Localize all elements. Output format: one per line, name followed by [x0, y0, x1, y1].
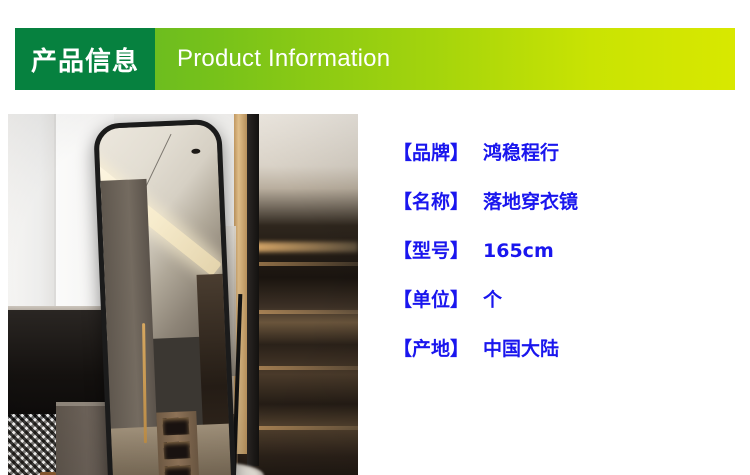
- spec-label-origin: 【产地】: [393, 334, 469, 361]
- spec-label-brand: 【品牌】: [393, 138, 469, 165]
- floor-standing-mirror: [93, 119, 240, 475]
- warm-light-stripe: [244, 310, 358, 314]
- banner-title-en: Product Information: [155, 28, 735, 90]
- spec-row-origin: 【产地】 中国大陆: [393, 334, 733, 383]
- banner-title-cn: 产品信息: [15, 28, 155, 90]
- spec-value-name: 落地穿衣镜: [483, 187, 578, 214]
- spec-row-unit: 【单位】 个: [393, 285, 733, 334]
- spec-value-unit: 个: [483, 285, 502, 312]
- reflected-shelf-slot: [163, 417, 190, 435]
- warm-light-stripe: [244, 426, 358, 430]
- product-information-banner: 产品信息 Product Information: [15, 28, 735, 90]
- spec-label-name: 【名称】: [393, 187, 469, 214]
- product-photo-scene: [8, 114, 358, 475]
- warm-light-stripe: [244, 366, 358, 370]
- product-photo: [8, 114, 358, 475]
- closet-panel-left: [8, 114, 54, 326]
- reflected-shelf-slot: [165, 465, 192, 475]
- product-spec-list: 【品牌】 鸿稳程行 【名称】 落地穿衣镜 【型号】 165cm 【单位】 个 【…: [393, 138, 733, 383]
- spec-label-unit: 【单位】: [393, 285, 469, 312]
- reflected-shelf-slot: [164, 441, 191, 459]
- spec-value-brand: 鸿稳程行: [483, 138, 559, 165]
- mirror-black-frame: [93, 119, 240, 475]
- spec-label-model: 【型号】: [393, 236, 469, 263]
- spec-row-brand: 【品牌】 鸿稳程行: [393, 138, 733, 187]
- spec-row-model: 【型号】 165cm: [393, 236, 733, 285]
- dark-door-jamb: [247, 114, 259, 466]
- spec-value-model: 165cm: [483, 240, 554, 262]
- spec-value-origin: 中国大陆: [483, 334, 559, 361]
- spec-row-name: 【名称】 落地穿衣镜: [393, 187, 733, 236]
- warm-light-stripe: [244, 262, 358, 266]
